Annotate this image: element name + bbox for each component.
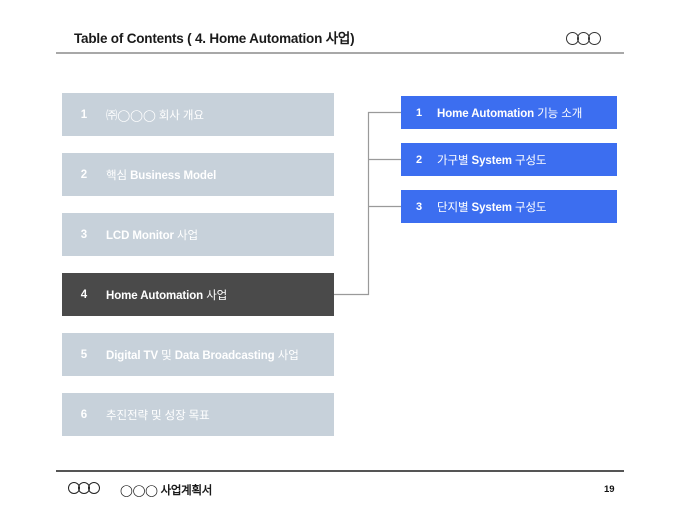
subsection-item-number: 1 (401, 107, 437, 119)
three-rings-logo-icon (68, 481, 120, 496)
toc-item-2[interactable]: 2 핵심 Business Model (62, 153, 334, 196)
subsection-item-label: 가구별 System 구성도 (437, 152, 546, 168)
page-title: Table of Contents ( 4. Home Automation 사… (74, 27, 354, 47)
subsection-item-2[interactable]: 2 가구별 System 구성도 (401, 143, 617, 176)
toc-item-label: 추진전략 및 성장 목표 (106, 407, 210, 423)
toc-item-4-active[interactable]: 4 Home Automation 사업 (62, 273, 334, 316)
toc-item-label: LCD Monitor 사업 (106, 227, 198, 243)
toc-item-3[interactable]: 3 LCD Monitor 사업 (62, 213, 334, 256)
toc-item-label: ㈜◯◯◯ 회사 개요 (106, 107, 204, 123)
toc-list: 1 ㈜◯◯◯ 회사 개요 2 핵심 Business Model 3 LCD M… (62, 93, 334, 453)
subsection-item-3[interactable]: 3 단지별 System 구성도 (401, 190, 617, 223)
footer-label: ◯◯◯ 사업계획서 (120, 482, 212, 498)
subsection-item-label: Home Automation 기능 소개 (437, 105, 582, 121)
toc-item-number: 3 (62, 229, 106, 241)
toc-item-label: Digital TV 및 Data Broadcasting 사업 (106, 347, 299, 363)
footer-divider (56, 470, 624, 472)
subsection-item-1[interactable]: 1 Home Automation 기능 소개 (401, 96, 617, 129)
connector-lines (330, 100, 410, 305)
toc-item-number: 1 (62, 109, 106, 121)
slide-canvas: Table of Contents ( 4. Home Automation 사… (0, 0, 680, 510)
subsection-item-number: 3 (401, 201, 437, 213)
subsection-item-number: 2 (401, 154, 437, 166)
connector-trunk (330, 113, 402, 295)
toc-item-1[interactable]: 1 ㈜◯◯◯ 회사 개요 (62, 93, 334, 136)
toc-item-number: 2 (62, 169, 106, 181)
three-rings-logo-icon (566, 31, 622, 47)
subsection-item-label: 단지별 System 구성도 (437, 199, 546, 215)
page-number: 19 (604, 484, 615, 495)
header-divider (56, 52, 624, 54)
subsection-list: 1 Home Automation 기능 소개 2 가구별 System 구성도… (401, 96, 617, 237)
toc-item-number: 4 (62, 289, 106, 301)
toc-item-label: 핵심 Business Model (106, 167, 216, 183)
toc-item-5[interactable]: 5 Digital TV 및 Data Broadcasting 사업 (62, 333, 334, 376)
toc-item-label: Home Automation 사업 (106, 287, 227, 303)
toc-item-number: 6 (62, 409, 106, 421)
toc-item-number: 5 (62, 349, 106, 361)
toc-item-6[interactable]: 6 추진전략 및 성장 목표 (62, 393, 334, 436)
